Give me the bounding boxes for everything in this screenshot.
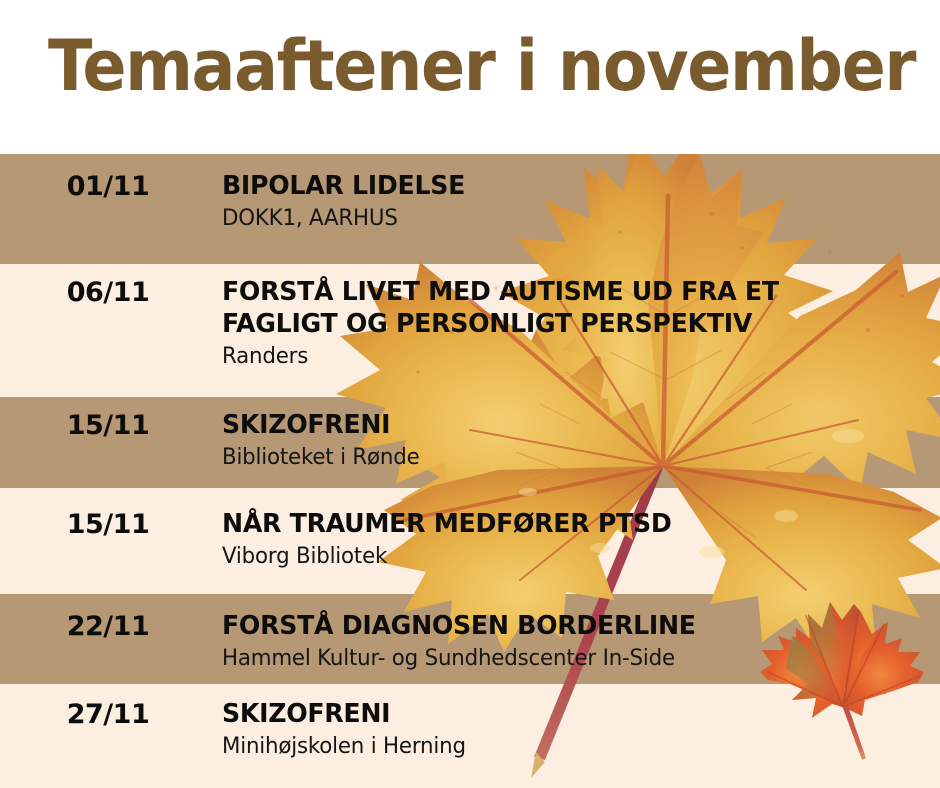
event-title-line-1: FORSTÅ LIVET MED AUTISME UD FRA ET [222,276,909,308]
event-date: 06/11 [28,276,188,310]
event-details: FORSTÅ LIVET MED AUTISME UD FRA ET FAGLI… [222,276,940,371]
event-venue: Viborg Bibliotek [222,542,909,571]
event-details: SKIZOFRENI Biblioteket i Rønde [222,409,940,472]
event-row-2[interactable]: 06/11 FORSTÅ LIVET MED AUTISME UD FRA ET… [0,276,940,371]
event-details: NÅR TRAUMER MEDFØRER PTSD Viborg Bibliot… [222,508,940,571]
event-title: FORSTÅ DIAGNOSEN BORDERLINE [222,610,909,642]
event-details: FORSTÅ DIAGNOSEN BORDERLINE Hammel Kultu… [222,610,940,673]
event-details: SKIZOFRENI Minihøjskolen i Herning [222,698,940,761]
event-row-6[interactable]: 27/11 SKIZOFRENI Minihøjskolen i Herning [0,698,940,761]
event-title: BIPOLAR LIDELSE [222,170,909,202]
event-venue: Hammel Kultur- og Sundhedscenter In-Side [222,644,909,673]
event-title: NÅR TRAUMER MEDFØRER PTSD [222,508,909,540]
event-date: 27/11 [28,698,188,732]
event-row-1[interactable]: 01/11 BIPOLAR LIDELSE DOKK1, AARHUS [0,170,940,233]
event-date: 01/11 [28,170,188,204]
event-date: 15/11 [28,409,188,443]
event-date: 15/11 [28,508,188,542]
event-details: BIPOLAR LIDELSE DOKK1, AARHUS [222,170,940,233]
event-venue: Randers [222,342,909,371]
event-venue: Minihøjskolen i Herning [222,732,909,761]
event-row-5[interactable]: 22/11 FORSTÅ DIAGNOSEN BORDERLINE Hammel… [0,610,940,673]
event-date: 22/11 [28,610,188,644]
poster-header: Temaaftener i november [0,0,940,154]
event-title-line-2: FAGLIGT OG PERSONLIGT PERSPEKTIV [222,308,909,340]
event-row-4[interactable]: 15/11 NÅR TRAUMER MEDFØRER PTSD Viborg B… [0,508,940,571]
page-title: Temaaftener i november [48,26,915,106]
event-row-3[interactable]: 15/11 SKIZOFRENI Biblioteket i Rønde [0,409,940,472]
event-venue: DOKK1, AARHUS [222,204,909,233]
event-title: SKIZOFRENI [222,409,909,441]
poster-canvas: Temaaftener i november 01/11 BIPOLAR LID… [0,0,940,788]
event-title: SKIZOFRENI [222,698,909,730]
event-venue: Biblioteket i Rønde [222,443,909,472]
